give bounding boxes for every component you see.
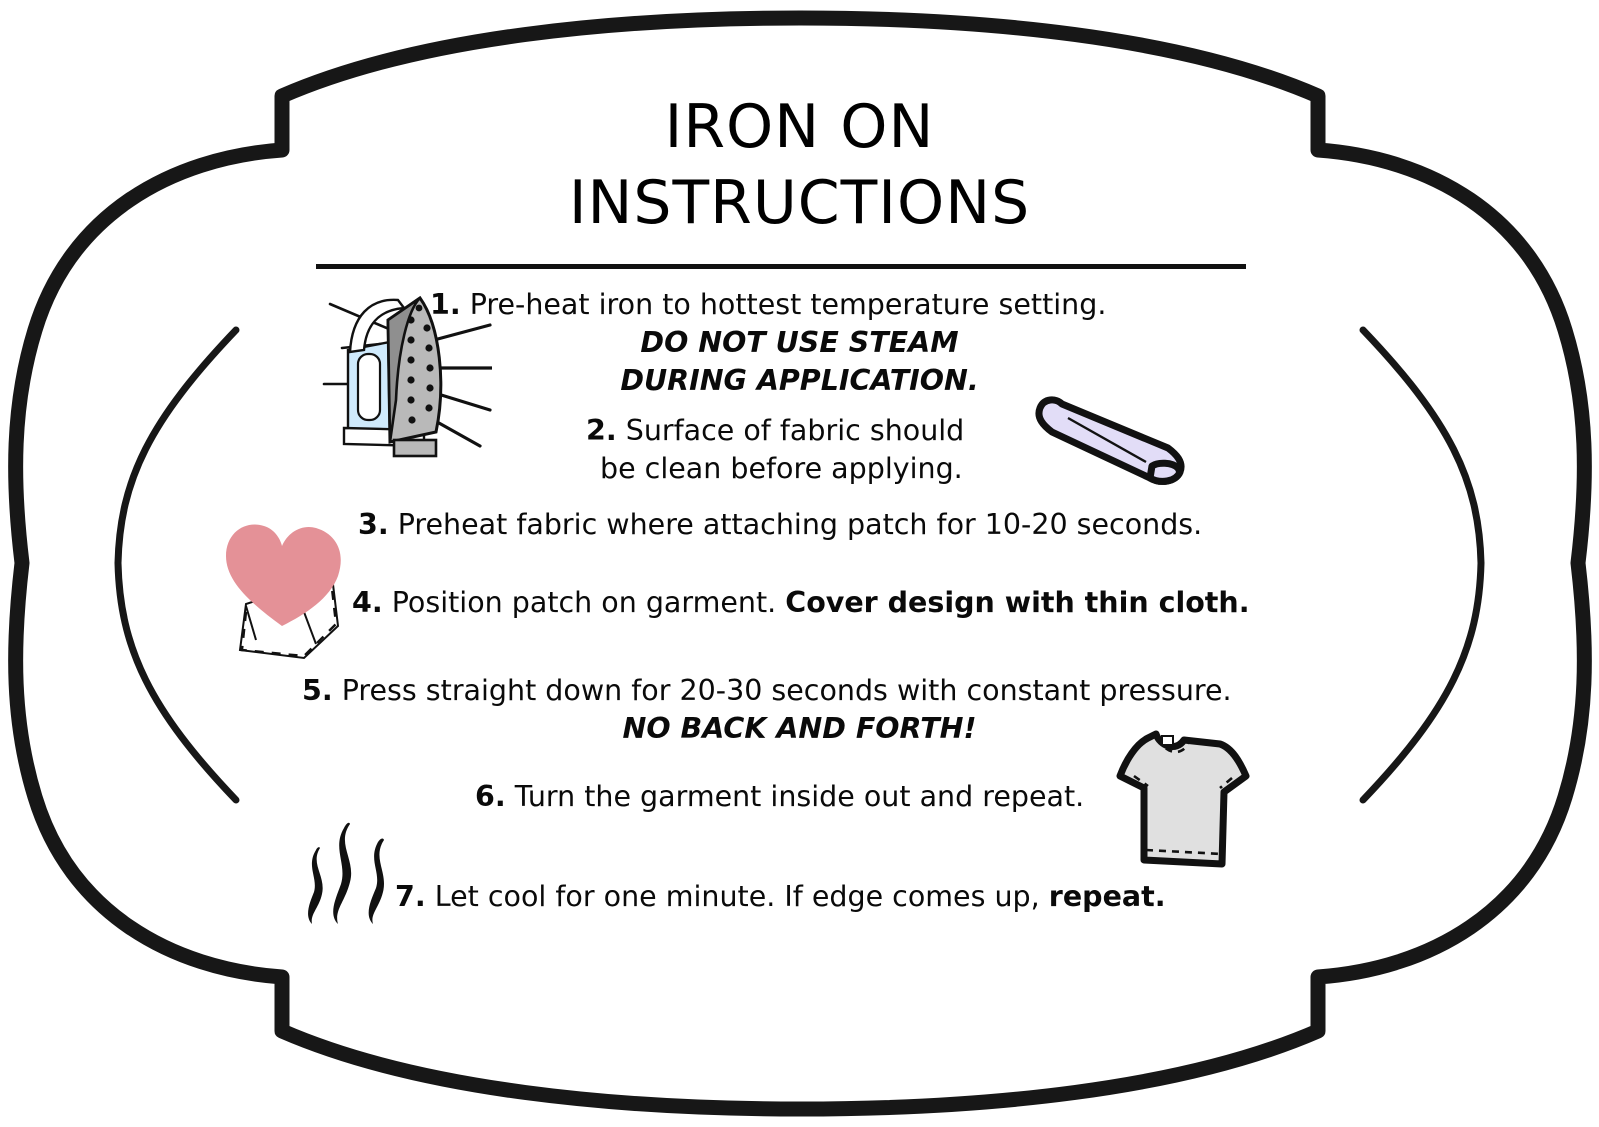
- step-1-emphasis-line-1: DO NOT USE STEAM: [0, 324, 1599, 362]
- step-2-line-1: 2. Surface of fabric should: [586, 412, 964, 450]
- step-3: 3. Preheat fabric where attaching patch …: [358, 506, 1202, 544]
- step-7-bold-text: repeat.: [1049, 880, 1166, 913]
- step-7-number: 7.: [395, 880, 426, 913]
- step-6: 6. Turn the garment inside out and repea…: [475, 778, 1084, 816]
- step-5-emphasis: NO BACK AND FORTH!: [0, 710, 1599, 748]
- step-4: 4. Position patch on garment. Cover desi…: [352, 584, 1250, 622]
- step-1-text: Pre-heat iron to hottest temperature set…: [470, 288, 1107, 321]
- page-title-line-1: IRON ON: [0, 96, 1599, 158]
- step-2-text-line-2: be clean before applying.: [600, 450, 963, 488]
- step-3-text: Preheat fabric where attaching patch for…: [398, 508, 1203, 541]
- title-divider: [316, 264, 1246, 269]
- poster-canvas: IRON ON INSTRUCTIONS 1. Pre-heat iron to…: [0, 0, 1599, 1127]
- step-7: 7. Let cool for one minute. If edge come…: [395, 878, 1166, 916]
- step-4-number: 4.: [352, 586, 383, 619]
- step-2-text-line-1: Surface of fabric should: [626, 414, 965, 447]
- page-title-line-2: INSTRUCTIONS: [0, 172, 1599, 234]
- step-1: 1. Pre-heat iron to hottest temperature …: [430, 286, 1106, 324]
- step-6-text: Turn the garment inside out and repeat.: [515, 780, 1084, 813]
- step-5-text: Press straight down for 20-30 seconds wi…: [342, 674, 1232, 707]
- step-1-emphasis-line-2: DURING APPLICATION.: [0, 362, 1599, 400]
- step-4-text: Position patch on garment.: [392, 586, 776, 619]
- step-6-number: 6.: [475, 780, 506, 813]
- step-5-number: 5.: [302, 674, 333, 707]
- step-3-number: 3.: [358, 508, 389, 541]
- step-7-text: Let cool for one minute. If edge comes u…: [435, 880, 1040, 913]
- step-2-number: 2.: [586, 414, 617, 447]
- step-4-bold-text: Cover design with thin cloth.: [785, 586, 1249, 619]
- step-5: 5. Press straight down for 20-30 seconds…: [302, 672, 1232, 710]
- step-1-number: 1.: [430, 288, 461, 321]
